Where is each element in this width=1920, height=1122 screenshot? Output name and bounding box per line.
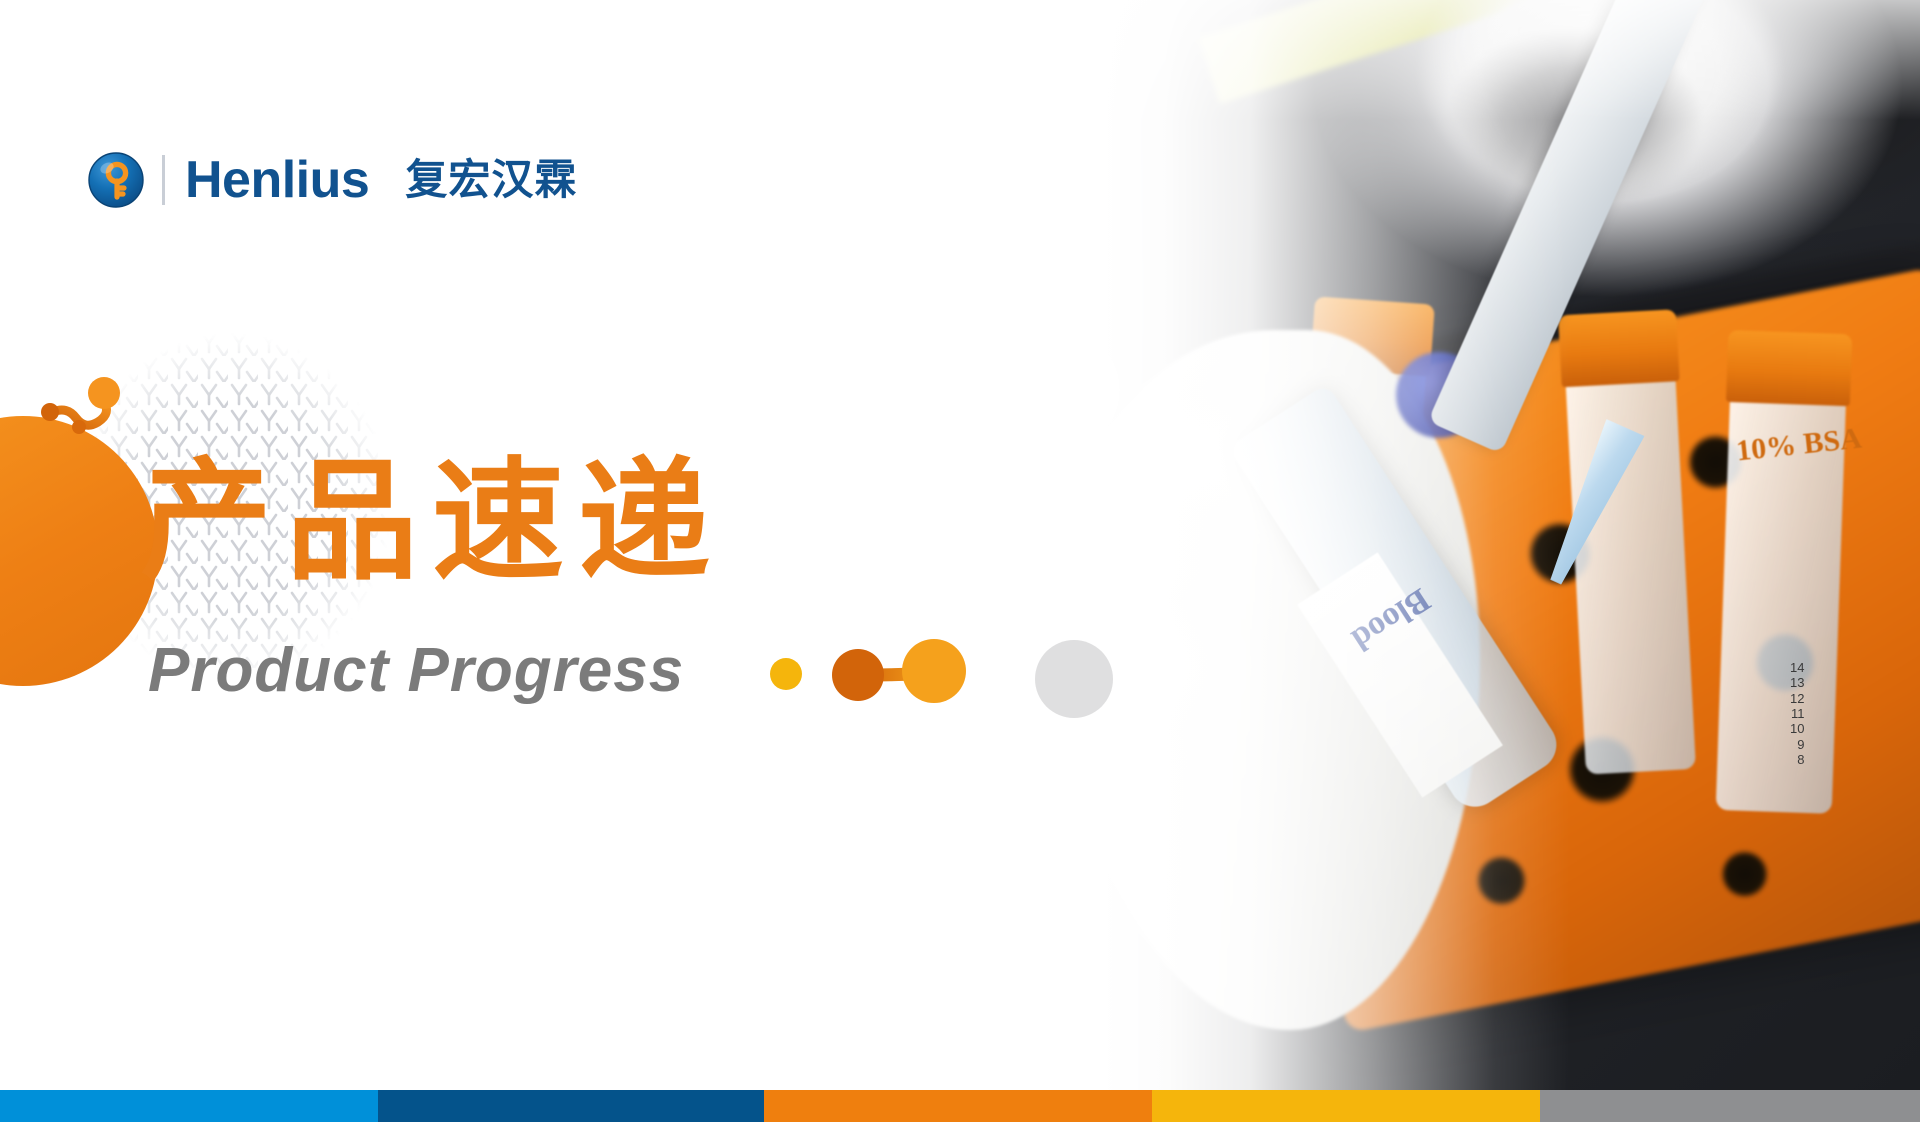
segment-dark-blue bbox=[378, 1090, 764, 1122]
graduation-mark: 9 bbox=[1790, 737, 1804, 752]
logo-chinese-name: 复宏汉霖 bbox=[405, 159, 577, 201]
slide-canvas: 10% BSA 141312111098 Blood bbox=[0, 0, 1920, 1122]
vial-cap bbox=[1558, 309, 1680, 387]
page-title-chinese: 产品速递 bbox=[140, 456, 724, 588]
logo-divider bbox=[162, 155, 165, 205]
segment-orange bbox=[764, 1090, 1152, 1122]
graduation-mark: 14 bbox=[1790, 660, 1804, 675]
logo-wordmark: Henlius bbox=[185, 154, 369, 206]
graduation-mark: 8 bbox=[1790, 752, 1804, 767]
photo-vial-right bbox=[1712, 330, 1853, 814]
graduation-mark: 11 bbox=[1790, 706, 1804, 721]
decor-dot-yellow bbox=[770, 658, 802, 690]
decor-soft-circle-upper bbox=[1000, 330, 1120, 450]
segment-grey bbox=[1540, 1090, 1920, 1122]
bottom-color-bar bbox=[0, 1090, 1920, 1122]
graduation-mark: 12 bbox=[1790, 691, 1804, 706]
molecule-dumbbell-small bbox=[36, 372, 156, 477]
vial-cap bbox=[1726, 330, 1852, 406]
henlius-emblem-icon bbox=[88, 152, 144, 208]
segment-light-blue bbox=[0, 1090, 378, 1122]
page-title-english: Product Progress bbox=[148, 640, 684, 702]
graduation-mark: 10 bbox=[1790, 721, 1804, 736]
molecule-dumbbell-large bbox=[830, 635, 970, 713]
vial-graduation-marks: 141312111098 bbox=[1790, 660, 1804, 767]
laboratory-pipetting-photo: 10% BSA 141312111098 Blood bbox=[1100, 0, 1920, 1090]
decor-soft-circle-lower bbox=[1035, 640, 1113, 718]
henlius-logo[interactable]: Henlius 复宏汉霖 bbox=[88, 148, 577, 212]
segment-yellow bbox=[1152, 1090, 1540, 1122]
graduation-mark: 13 bbox=[1790, 675, 1804, 690]
